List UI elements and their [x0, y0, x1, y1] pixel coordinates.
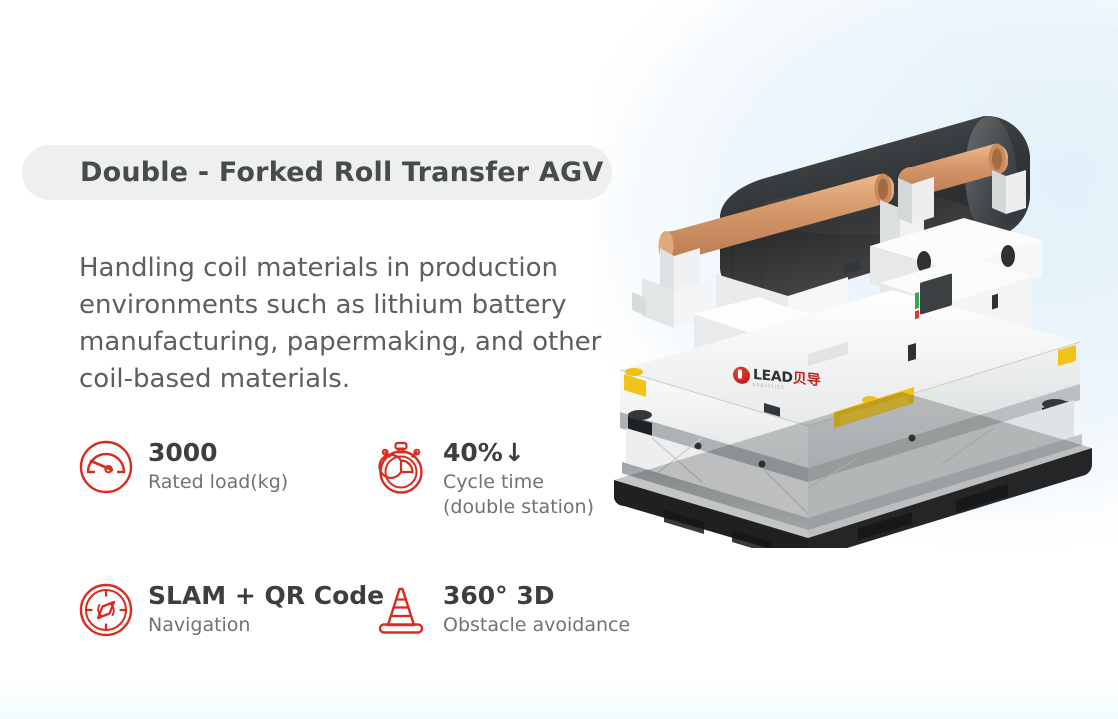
- agv-illustration: [612, 78, 1118, 548]
- spec-value: SLAM + QR Code: [148, 582, 384, 609]
- spec-label: Cycle time: [443, 470, 594, 495]
- spec-label: Rated load(kg): [148, 470, 288, 495]
- status-led-red: [915, 310, 919, 319]
- compass-icon: [78, 582, 134, 638]
- product-image-double-forked-roll-transfer-agv: LEAD贝导 LOGISTICS: [612, 78, 1118, 548]
- spec-text-obstacle-avoidance: 360° 3D Obstacle avoidance: [443, 580, 630, 638]
- spec-label: Obstacle avoidance: [443, 613, 630, 638]
- beacon-left: [625, 368, 643, 376]
- spec-text-rated-load: 3000 Rated load(kg): [148, 437, 288, 495]
- spec-text-cycle-time: 40% ↓ Cycle time (double station): [443, 437, 594, 520]
- product-description: Handling coil materials in production en…: [79, 250, 649, 398]
- spec-value-text: SLAM + QR Code: [148, 582, 384, 609]
- spec-text-navigation: SLAM + QR Code Navigation: [148, 580, 384, 638]
- status-led-green: [915, 292, 919, 309]
- brand-name-cn: 贝导: [793, 370, 821, 389]
- poster-canvas: Double - Forked Roll Transfer AGV Handli…: [0, 0, 1118, 719]
- gauge-icon: [78, 439, 134, 495]
- spec-item-cycle-time: 40% ↓ Cycle time (double station): [373, 437, 648, 520]
- page-title: Double - Forked Roll Transfer AGV: [80, 157, 603, 188]
- spec-item-obstacle-avoidance: 360° 3D Obstacle avoidance: [373, 580, 648, 638]
- spec-value: 360° 3D: [443, 582, 630, 609]
- spec-label-secondary: (double station): [443, 495, 594, 520]
- spec-item-rated-load: 3000 Rated load(kg): [78, 437, 373, 520]
- spec-grid: 3000 Rated load(kg): [78, 437, 648, 638]
- spec-value: 40% ↓: [443, 439, 594, 466]
- spec-label: Navigation: [148, 613, 384, 638]
- stopwatch-icon: [373, 439, 429, 495]
- spec-row-2: SLAM + QR Code Navigation: [78, 580, 648, 638]
- spec-value-text: 40%: [443, 439, 503, 466]
- lead-logo-mark: [733, 366, 750, 385]
- page-title-pill: Double - Forked Roll Transfer AGV: [22, 145, 612, 200]
- traffic-cone-icon: [373, 582, 429, 638]
- arrow-down-icon: ↓: [504, 439, 525, 466]
- carriage-pin-right: [1001, 245, 1015, 267]
- spec-value: 3000: [148, 439, 288, 466]
- spec-value-text: 3000: [148, 439, 218, 466]
- background-bottom-tint: [0, 679, 1118, 719]
- lower-port-2: [992, 294, 998, 310]
- lower-port: [908, 343, 916, 361]
- spec-item-navigation: SLAM + QR Code Navigation: [78, 580, 373, 638]
- spec-value-text: 360° 3D: [443, 582, 555, 609]
- spec-row-1: 3000 Rated load(kg): [78, 437, 648, 520]
